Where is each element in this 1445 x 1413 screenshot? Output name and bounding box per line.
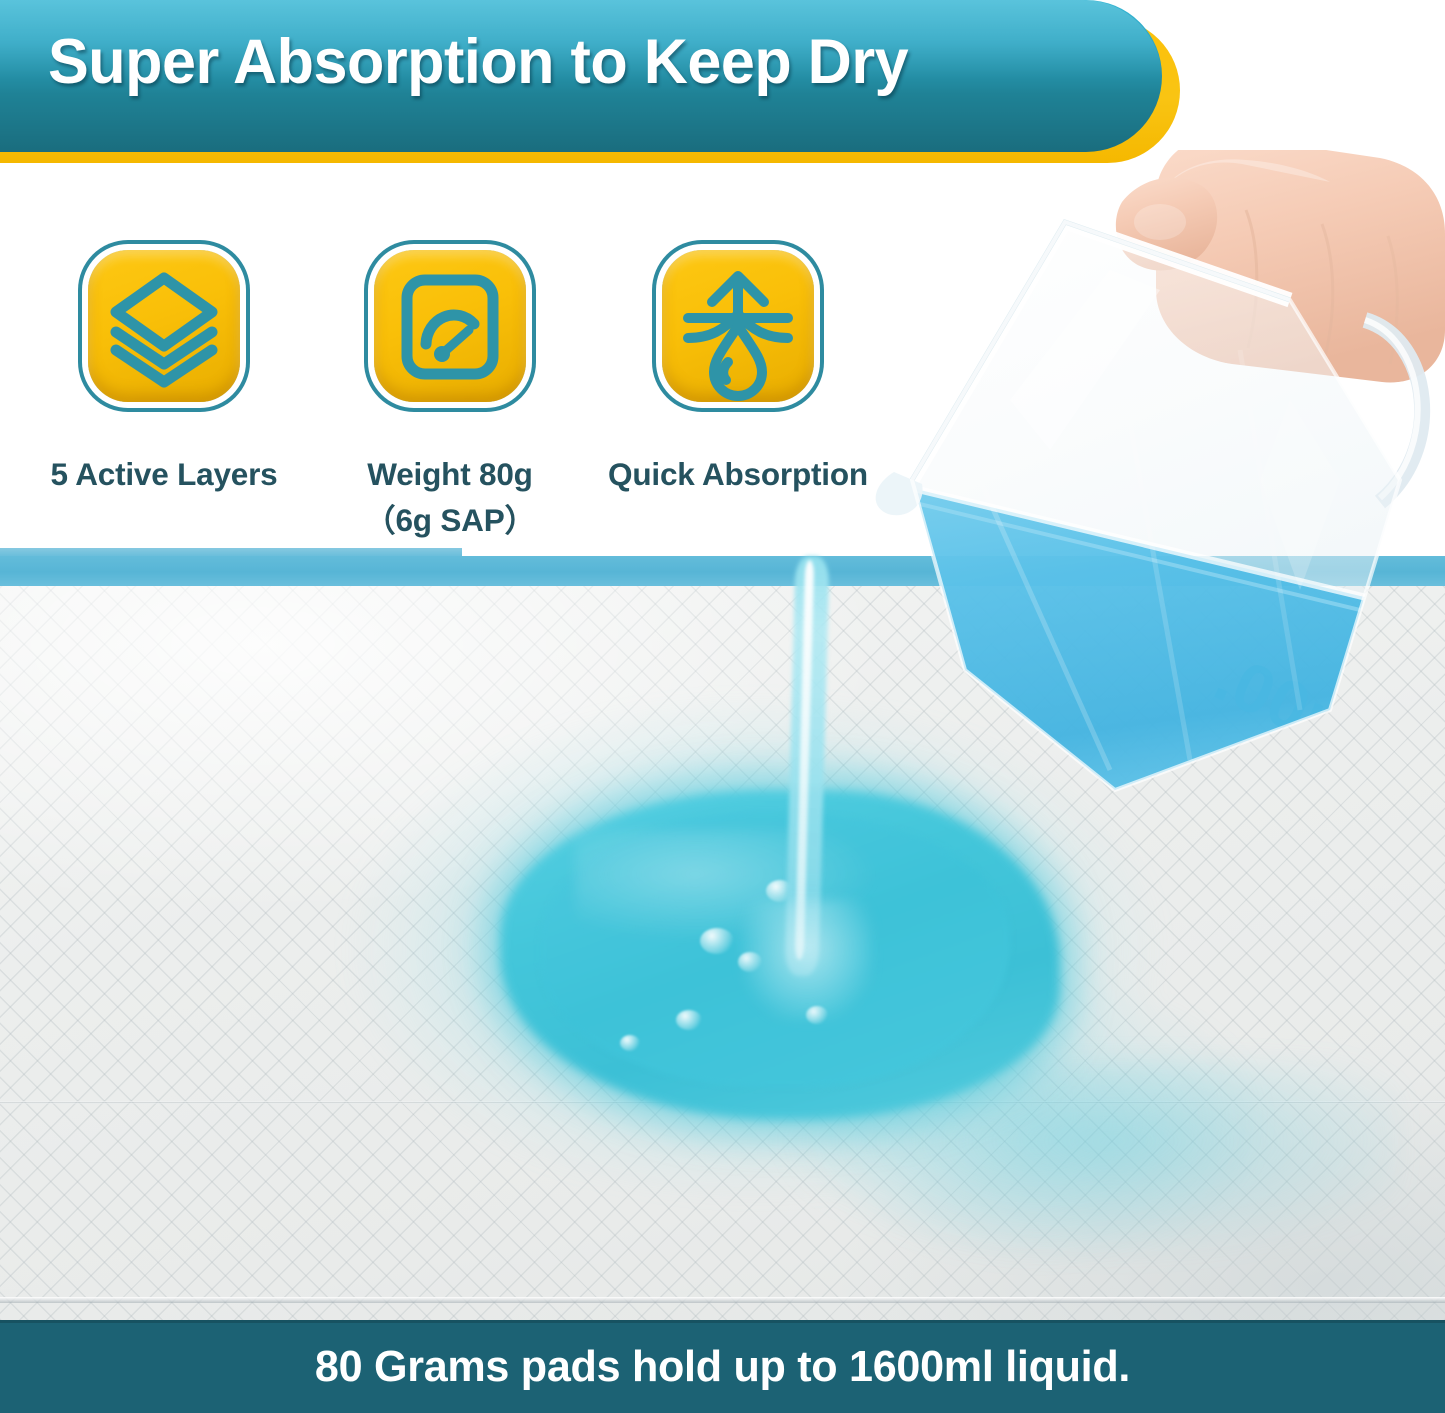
footer-top-edge	[0, 1320, 1445, 1323]
product-infographic: .00ml	[0, 0, 1445, 1413]
pouring-stream-highlight	[795, 560, 814, 960]
pitcher-body: .00ml	[860, 222, 1445, 800]
feature-label-absorption: Quick Absorption	[588, 454, 888, 496]
bubble	[620, 1035, 640, 1051]
pad-seam-upper	[0, 1101, 1445, 1104]
bubble	[676, 1010, 702, 1030]
layers-icon-tile	[88, 250, 240, 402]
page-title: Super Absorption to Keep Dry	[48, 31, 1086, 94]
pad-seam-lower	[0, 1297, 1445, 1303]
liquid-pool-highlight	[575, 830, 875, 940]
bubble	[700, 928, 734, 954]
layers-icon	[88, 250, 240, 402]
pad-edge-strip-left	[0, 548, 462, 558]
liquid-diffusion-halo	[330, 660, 1340, 1300]
pad-sheen	[0, 586, 1445, 1320]
bubble	[738, 952, 762, 972]
liquid-pool	[500, 790, 1060, 1120]
pad-edge-strip	[0, 556, 1445, 588]
feature-label-weight: Weight 80g （6g SAP）	[300, 454, 600, 542]
bubble	[806, 1006, 828, 1024]
product-photo: .00ml	[0, 0, 1445, 1320]
gauge-icon-tile	[374, 250, 526, 402]
absorption-arrow-droplet-icon	[662, 250, 814, 402]
splash-glow	[742, 900, 872, 1020]
feature-label-weight-main: Weight 80g	[367, 456, 532, 492]
feature-item-weight: Weight 80g （6g SAP）	[300, 250, 600, 542]
feature-label-layers: 5 Active Layers	[14, 454, 314, 496]
liquid-diffusion-halo-lower	[640, 1060, 1400, 1320]
pouring-stream	[785, 556, 830, 977]
measuring-pitcher-with-hand: .00ml	[860, 150, 1445, 800]
feature-row: 5 Active Layers Weight 80g （6g SAP）	[0, 250, 900, 540]
header-banner: Super Absorption to Keep Dry	[0, 0, 1205, 168]
footer-caption-bar: 80 Grams pads hold up to 1600ml liquid.	[0, 1320, 1445, 1413]
feature-item-layers: 5 Active Layers	[14, 250, 314, 496]
gauge-icon	[374, 250, 526, 402]
pitcher-graduation-label: .00ml	[1204, 639, 1394, 779]
hand-icon	[1116, 150, 1445, 382]
liquid-pool-core	[540, 812, 1010, 1087]
absorption-icon-tile	[662, 250, 814, 402]
feature-label-weight-sub: （6g SAP）	[300, 500, 600, 542]
bubble	[766, 880, 794, 902]
quilted-pad-surface	[0, 586, 1445, 1320]
feature-item-absorption: Quick Absorption	[588, 250, 888, 496]
footer-caption: 80 Grams pads hold up to 1600ml liquid.	[14, 1342, 1430, 1392]
